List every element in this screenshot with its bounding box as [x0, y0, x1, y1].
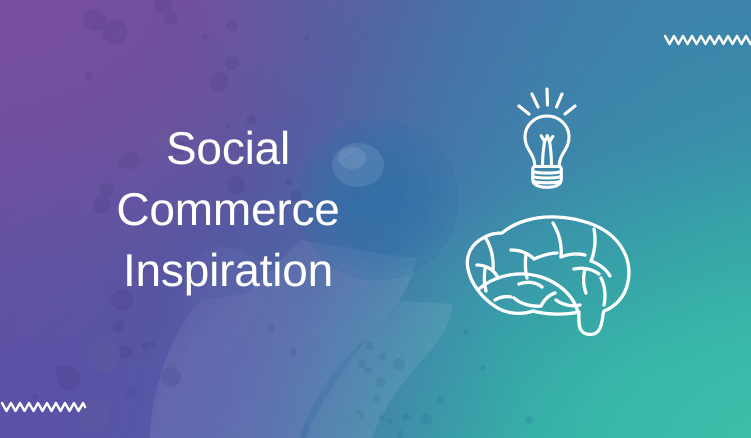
lightbulb-icon	[508, 86, 586, 190]
wave-top-right	[664, 26, 751, 50]
social-commerce-banner: Social Commerce Inspiration	[0, 0, 751, 438]
brain-icon	[455, 212, 641, 338]
wave-bottom-left	[0, 392, 92, 416]
headline-line-3: Inspiration	[40, 240, 416, 301]
headline-line-1: Social	[40, 118, 416, 179]
page-title: Social Commerce Inspiration	[40, 118, 416, 301]
headline-line-2: Commerce	[40, 179, 416, 240]
